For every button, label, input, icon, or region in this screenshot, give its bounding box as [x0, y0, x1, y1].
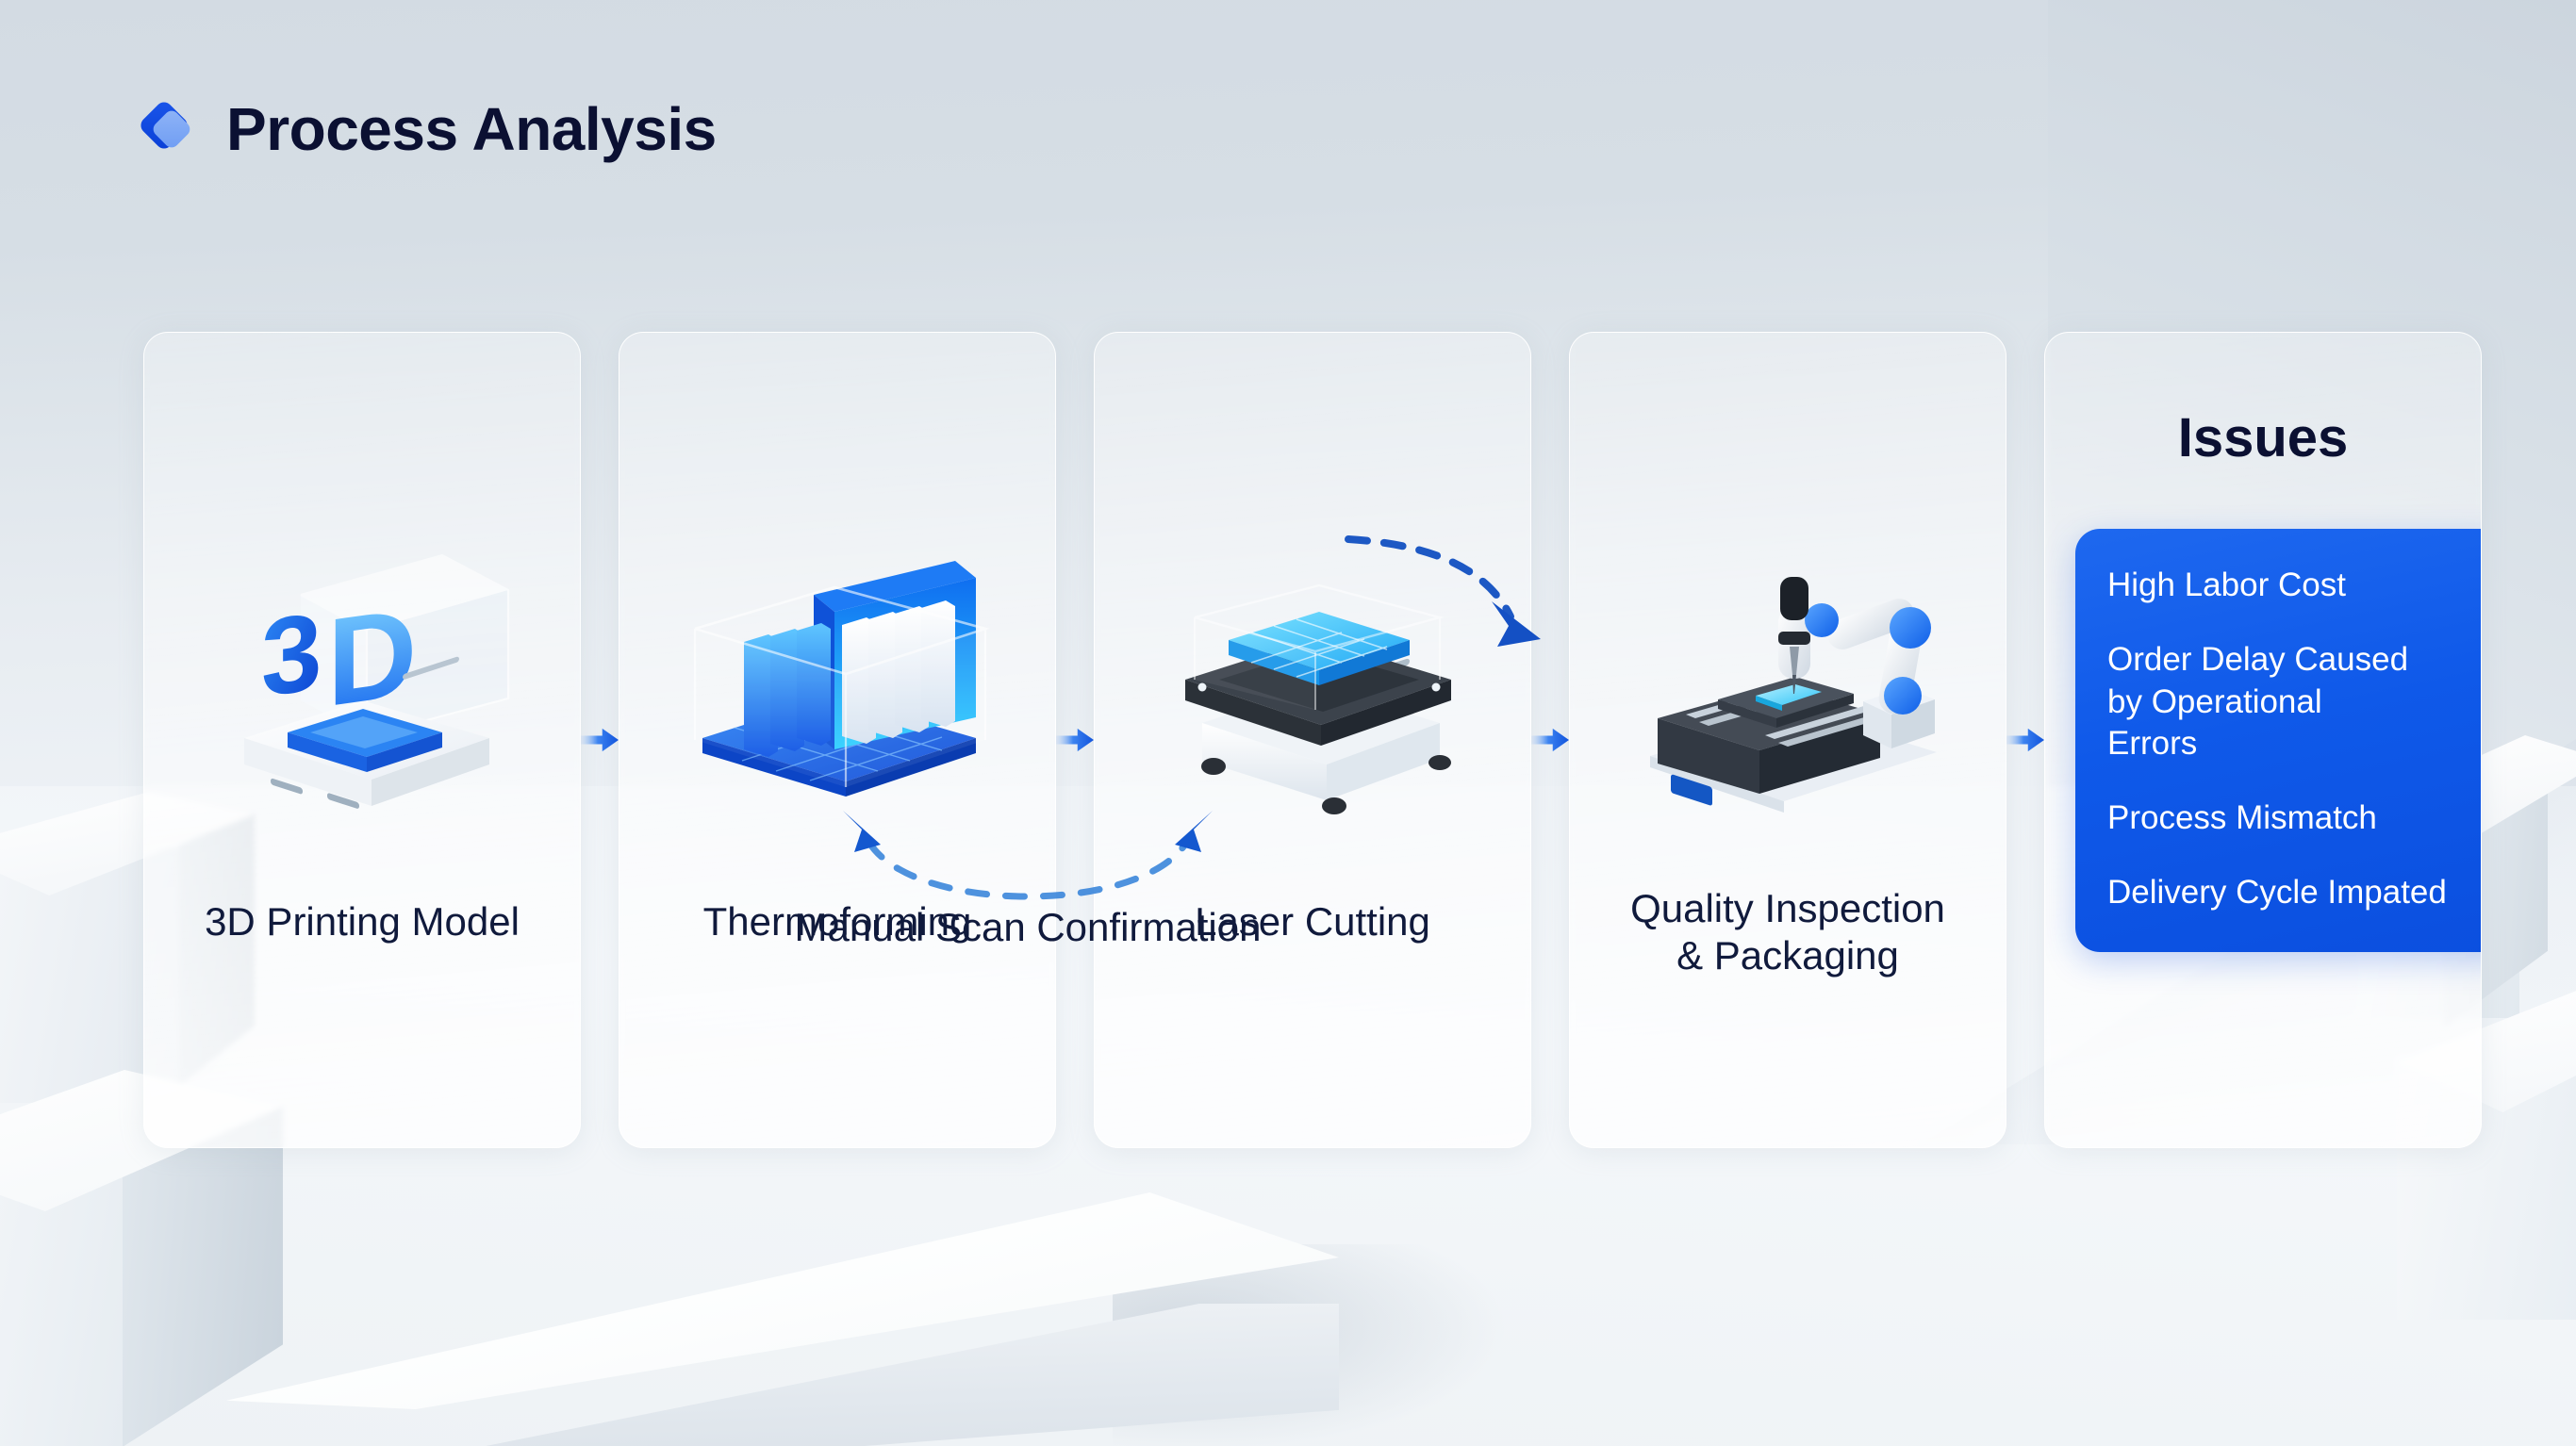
decorative-foreground-bar	[226, 1192, 1339, 1446]
issue-item: High Labor Cost	[2107, 565, 2482, 607]
stage-card-quality-inspection[interactable]: Quality Inspection & Packaging	[1569, 332, 2006, 1148]
dashed-curved-arrow	[1339, 528, 1650, 679]
thermoforming-machine-icon	[619, 510, 1055, 849]
svg-text:3: 3	[261, 588, 322, 719]
issues-list: High Labor Cost Order Delay Caused by Op…	[2075, 529, 2482, 952]
svg-text:D: D	[327, 582, 417, 733]
diamond-icon	[141, 103, 194, 156]
3d-printer-icon: 3 D	[144, 510, 580, 849]
arrow-3	[1531, 332, 1569, 1148]
process-flow: 3 D 3D Printing Model	[143, 332, 2463, 1148]
page-title: Process Analysis	[226, 99, 717, 159]
stage-card-3d-printing-model[interactable]: 3 D 3D Printing Model	[143, 332, 581, 1148]
stage-card-thermoforming[interactable]: Thermoforming	[619, 332, 1056, 1148]
arrow-4	[2006, 332, 2044, 1148]
arrow-2	[1056, 332, 1094, 1148]
arrow-1	[581, 332, 619, 1148]
issue-item: Delivery Cycle Impated	[2107, 872, 2482, 914]
stage-card-laser-cutting[interactable]: Laser Cutting	[1094, 332, 1531, 1148]
page-header: Process Analysis	[141, 99, 717, 159]
manual-scan-confirmation-label: Manual Scan Confirmation	[717, 905, 1339, 950]
issues-title: Issues	[2045, 406, 2481, 469]
issue-item: Order Delay Caused by Operational Errors	[2107, 639, 2482, 765]
stage-label: 3D Printing Model	[144, 898, 580, 945]
stage-label: Quality Inspection & Packaging	[1570, 885, 2006, 978]
issue-item: Process Mismatch	[2107, 797, 2482, 840]
issues-card[interactable]: Issues High Labor Cost Order Delay Cause…	[2044, 332, 2482, 1148]
